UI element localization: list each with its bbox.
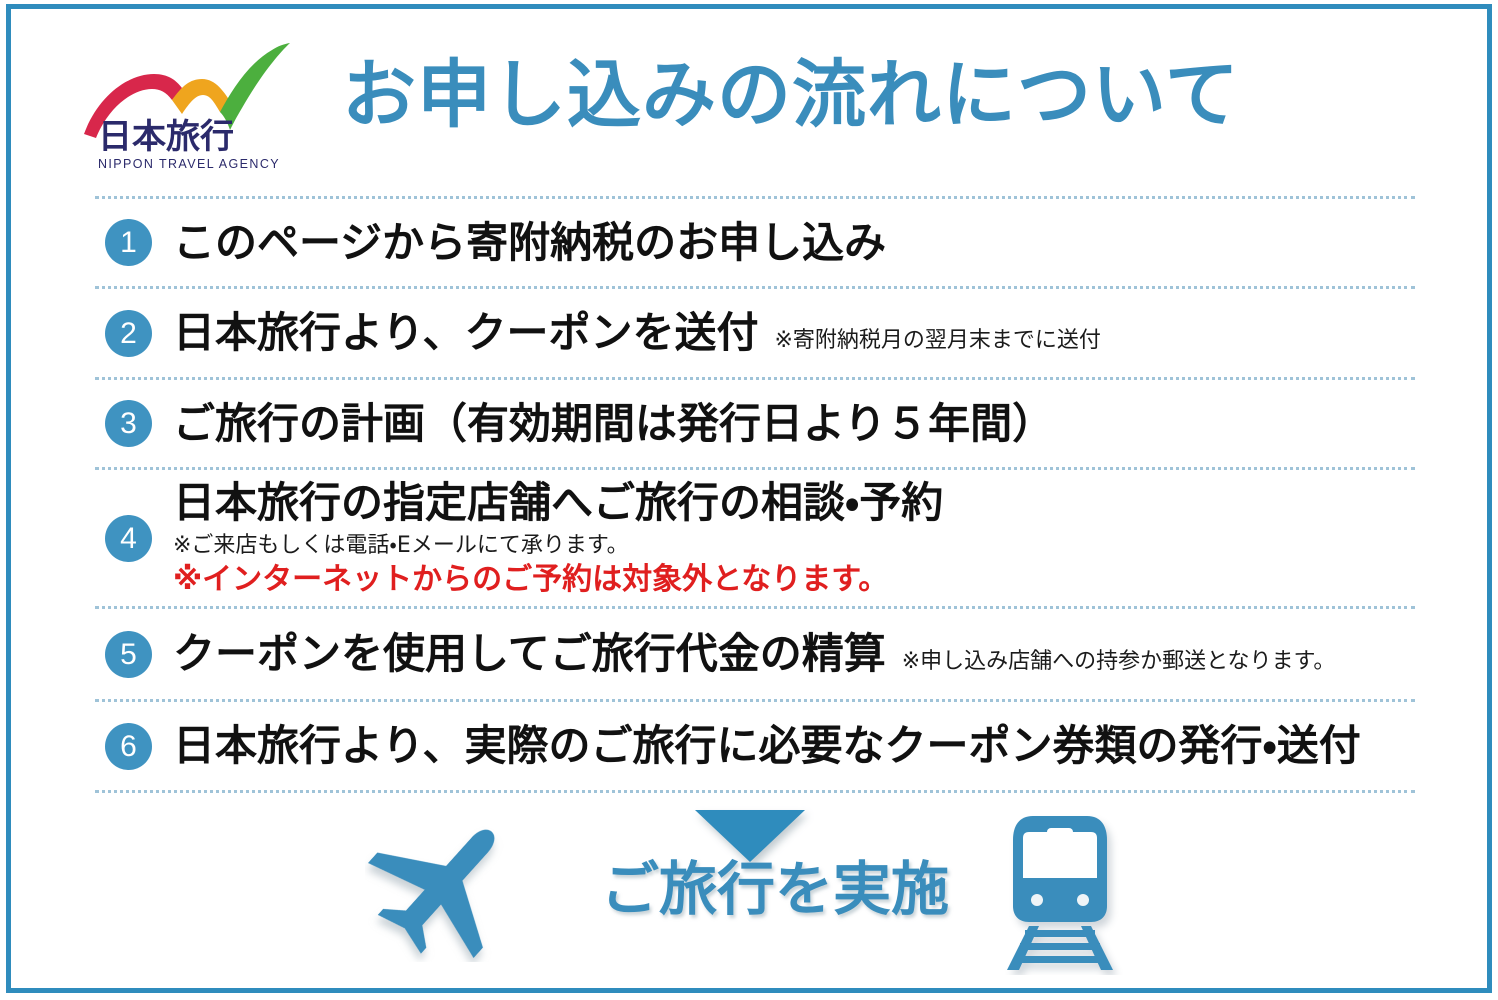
step-number-badge-2: 2 <box>105 310 152 357</box>
footer-text: ご旅行を実施 <box>565 860 985 918</box>
step-headline-6: 日本旅行より、実際のご旅行に必要なクーポン券類の発行・送付 <box>173 721 1361 771</box>
infographic-page: 日本旅行 NIPPON TRAVEL AGENCY お申し込みの流れについて 1… <box>0 0 1498 1000</box>
step-number-badge-5: 5 <box>105 631 152 678</box>
step-row-6: 6 日本旅行より、実際のご旅行に必要なクーポン券類の発行・送付 <box>95 702 1415 790</box>
divider <box>95 790 1415 793</box>
step-number-badge-1: 1 <box>105 219 152 266</box>
header: 日本旅行 NIPPON TRAVEL AGENCY お申し込みの流れについて <box>80 36 1420 181</box>
step-note-2: ※寄附納税月の翌月末までに送付 <box>774 328 1100 354</box>
step-number-badge-3: 3 <box>105 400 152 447</box>
step-row-2: 2 日本旅行より、クーポンを送付 ※寄附納税月の翌月末までに送付 <box>95 289 1415 377</box>
step-headline-2: 日本旅行より、クーポンを送付 <box>173 308 758 358</box>
step-row-5: 5 クーポンを使用してご旅行代金の精算 ※申し込み店舗への持参か郵送となります。 <box>95 609 1415 699</box>
step-headline-5: クーポンを使用してご旅行代金の精算 <box>173 629 886 679</box>
step-number-badge-4: 4 <box>105 515 152 562</box>
logo-japanese-text: 日本旅行 <box>98 117 234 157</box>
step-row-1: 1 このページから寄附納税のお申し込み <box>95 199 1415 286</box>
step-row-4: 4 日本旅行の指定店舗へご旅行の相談・予約 ※ご来店もしくは電話・Eメールにて承… <box>95 470 1415 606</box>
step-note-4: ※ご来店もしくは電話・Eメールにて承ります。 <box>173 532 1415 560</box>
nippon-travel-agency-logo: 日本旅行 NIPPON TRAVEL AGENCY <box>80 42 310 177</box>
step-headline-4: 日本旅行の指定店舗へご旅行の相談・予約 <box>173 478 943 528</box>
step-headline-1: このページから寄附納税のお申し込み <box>173 218 886 268</box>
airplane-icon <box>365 812 535 962</box>
logo-english-text: NIPPON TRAVEL AGENCY <box>98 157 280 171</box>
steps-list: 1 このページから寄附納税のお申し込み 2 日本旅行より、クーポンを送付 ※寄附… <box>95 196 1415 793</box>
step-warning-4: ※インターネットからのご予約は対象外となります。 <box>173 562 1415 598</box>
train-icon <box>995 810 1125 975</box>
page-title: お申し込みの流れについて <box>342 58 1240 132</box>
step-number-badge-6: 6 <box>105 723 152 770</box>
step-note-5: ※申し込み店舗への持参か郵送となります。 <box>902 649 1336 675</box>
step-row-3: 3 ご旅行の計画（有効期間は発行日より５年間） <box>95 380 1415 467</box>
footer: ご旅行を実施 <box>95 806 1415 976</box>
step-headline-3: ご旅行の計画（有効期間は発行日より５年間） <box>173 399 1054 449</box>
